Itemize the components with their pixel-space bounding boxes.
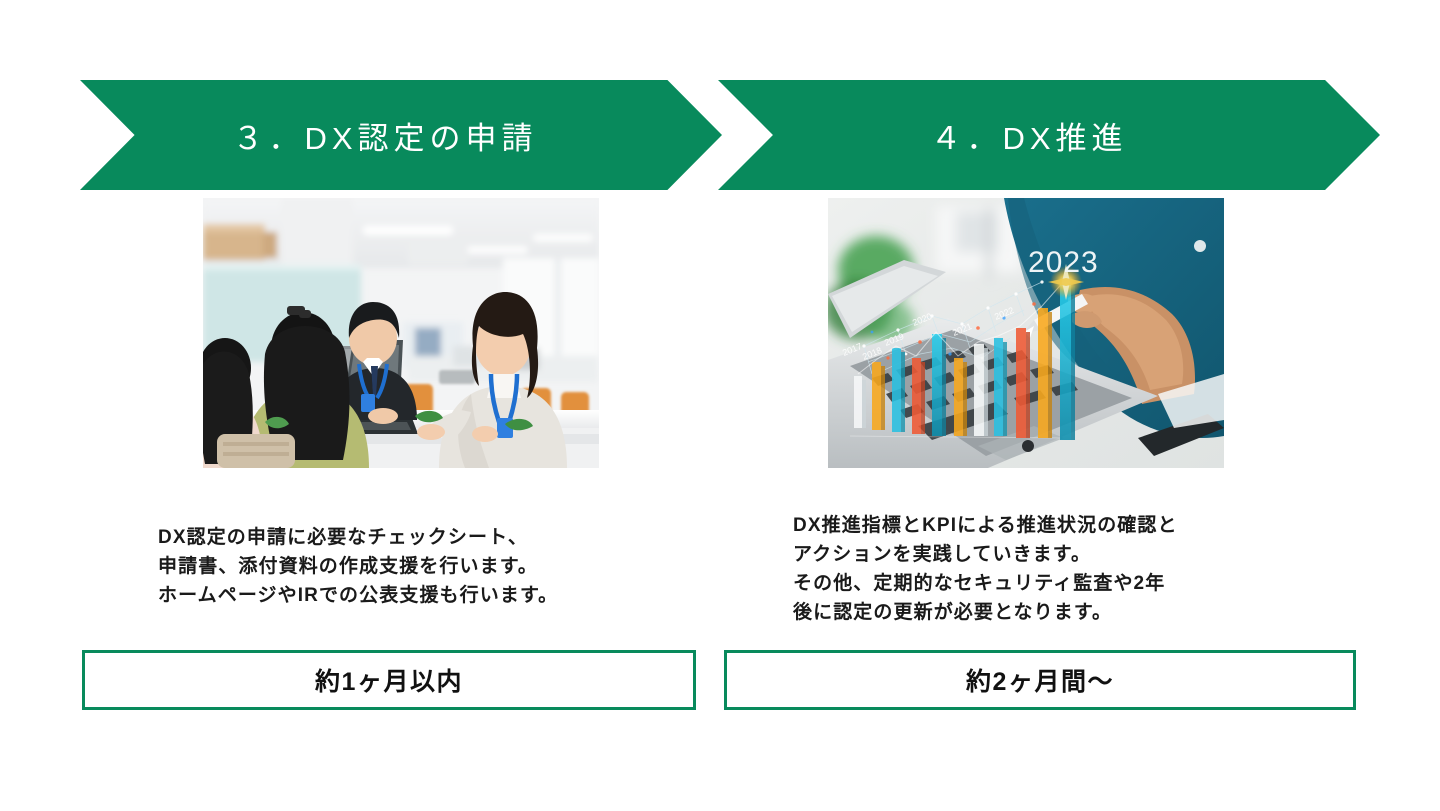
- step-3-duration-box: 約1ヶ月以内: [82, 650, 696, 710]
- step-4-duration-label: 約2ヶ月間〜: [966, 662, 1114, 698]
- step-3-duration-label: 約1ヶ月以内: [315, 662, 463, 698]
- step-3-description: DX認定の申請に必要なチェックシート、 申請書、添付資料の作成支援を行います。 …: [158, 523, 558, 610]
- step-4-description: DX推進指標とKPIによる推進状況の確認と アクションを実践していきます。 その…: [793, 511, 1178, 627]
- step-3-photo: [203, 198, 599, 468]
- office-meeting-illustration: [203, 198, 599, 468]
- infographic-canvas: ３．DX認定の申請 ４．DX推進: [0, 0, 1440, 811]
- step-4-photo: 2017 2018 2019 2020 2021 2022 2023: [828, 198, 1224, 468]
- laptop-hologram-chart-illustration: 2017 2018 2019 2020 2021 2022 2023: [828, 198, 1224, 468]
- step-4-duration-box: 約2ヶ月間〜: [724, 650, 1356, 710]
- step-banner-4: ４．DX推進: [718, 80, 1380, 190]
- step-banner-4-title: ４．DX推進: [930, 113, 1127, 158]
- svg-text:2023: 2023: [1028, 246, 1099, 279]
- step-banner-3: ３．DX認定の申請: [80, 80, 722, 190]
- step-banner-3-title: ３．DX認定の申請: [232, 113, 537, 158]
